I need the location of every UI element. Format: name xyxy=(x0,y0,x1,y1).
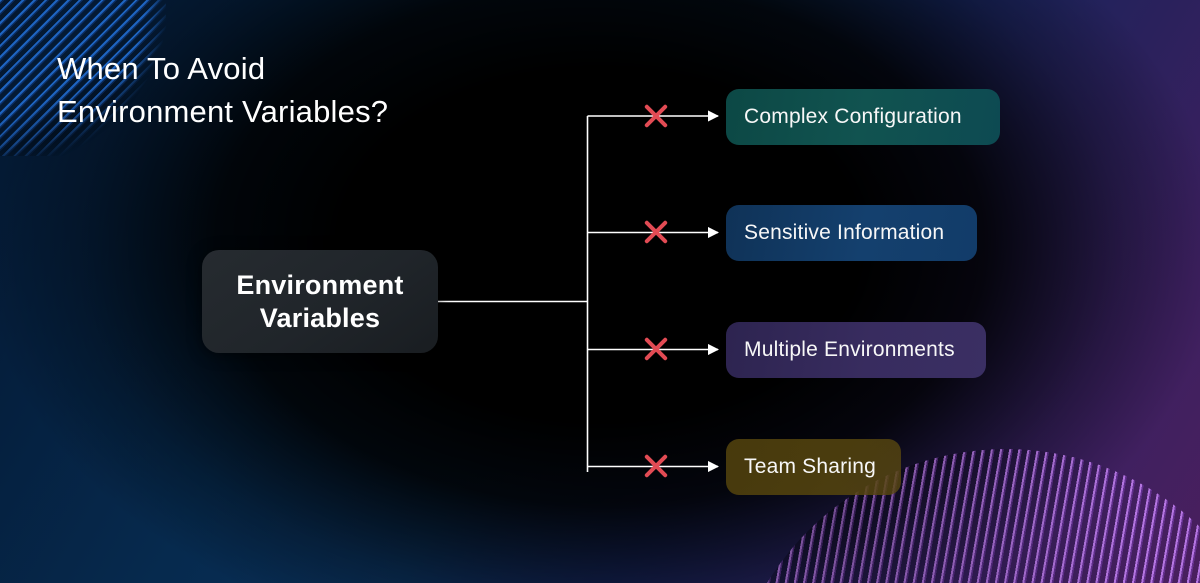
page-title: When To Avoid Environment Variables? xyxy=(57,47,617,133)
red-x-icon-0 xyxy=(641,101,671,131)
branch-item-sensitive-information[interactable]: Sensitive Information xyxy=(726,205,977,261)
branch-item-complex-configuration[interactable]: Complex Configuration xyxy=(726,89,1000,145)
red-x-icon-3 xyxy=(641,451,671,481)
infographic-canvas: When To Avoid Environment Variables? Env… xyxy=(0,0,1200,583)
red-x-icon-2 xyxy=(641,334,671,364)
branch-item-team-sharing[interactable]: Team Sharing xyxy=(726,439,901,495)
branch-item-multiple-environments[interactable]: Multiple Environments xyxy=(726,322,986,378)
red-x-icon-1 xyxy=(641,217,671,247)
root-node-environment-variables[interactable]: Environment Variables xyxy=(202,250,438,353)
